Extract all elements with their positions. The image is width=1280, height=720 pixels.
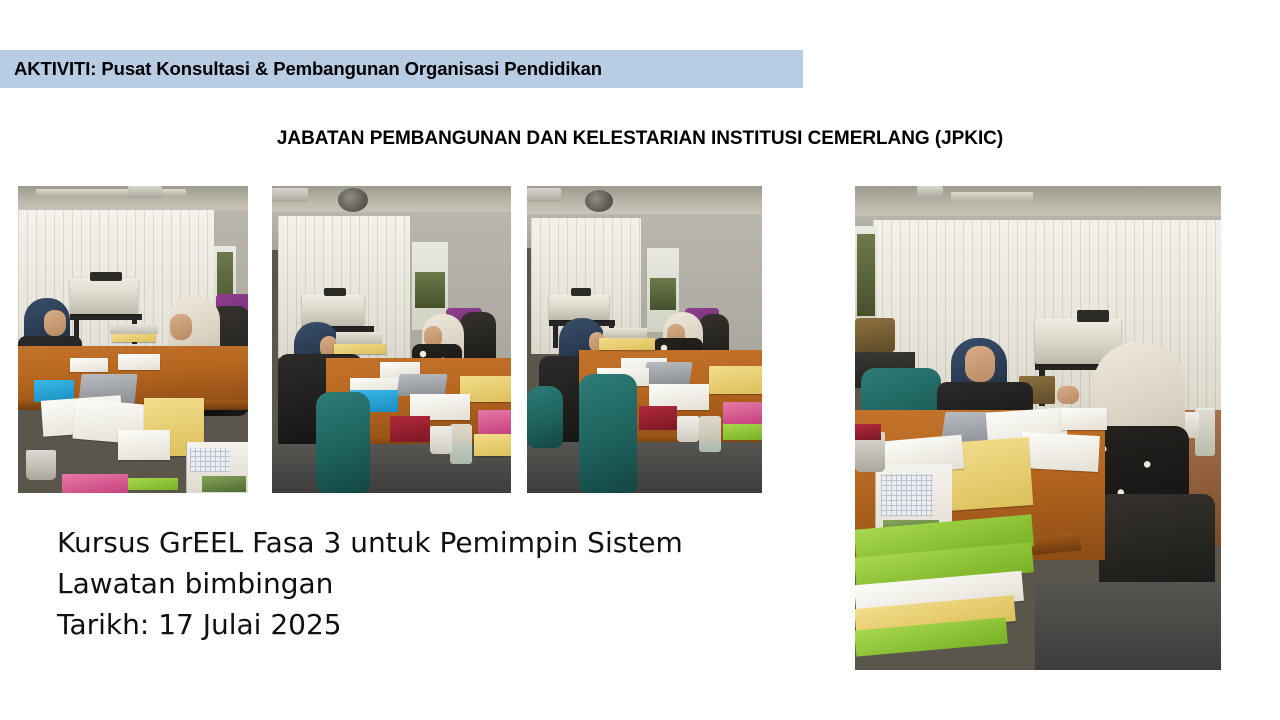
red-box	[390, 416, 430, 442]
floor	[1035, 582, 1221, 670]
teal-chair-arm	[527, 386, 563, 448]
teal-chair	[316, 392, 370, 493]
paper-stack-a	[118, 354, 160, 370]
pink-pouch	[62, 474, 128, 493]
calendar-grid	[881, 474, 933, 516]
yellow-file	[599, 338, 655, 350]
photo-1	[18, 186, 248, 493]
printer	[70, 278, 138, 314]
caption-line-3: Tarikh: 17 Julai 2025	[57, 604, 817, 645]
air-conditioner	[272, 188, 308, 202]
ceiling	[527, 186, 762, 216]
document-sheet-b	[1020, 432, 1100, 472]
printer-top	[324, 288, 346, 296]
calendar-photo	[202, 476, 246, 492]
photo-2	[272, 186, 511, 493]
red-item	[855, 424, 881, 440]
paper-stack-b	[70, 358, 108, 372]
air-conditioner	[917, 186, 943, 198]
printer-top	[1077, 310, 1109, 322]
teal-chair-back	[579, 374, 637, 493]
red-box	[639, 406, 677, 430]
person-right-hand	[1057, 386, 1079, 404]
green-folder	[723, 424, 762, 440]
book-stack	[110, 324, 158, 334]
book-stack	[336, 332, 382, 344]
paper-stack-top	[1061, 408, 1107, 430]
pink-folder	[723, 402, 762, 424]
wall-fan	[338, 188, 368, 212]
activity-banner-label: AKTIVITI: Pusat Konsultasi & Pembangunan…	[0, 58, 602, 80]
person-right-face	[170, 314, 192, 340]
green-folder	[128, 478, 178, 490]
photo-4	[855, 186, 1221, 670]
printer-top	[90, 272, 122, 281]
photo-2-scene	[272, 186, 511, 493]
printer	[302, 294, 364, 326]
photo-1-scene	[18, 186, 248, 493]
pen-holder	[26, 450, 56, 480]
ceiling-light	[951, 192, 1033, 202]
air-conditioner	[527, 188, 561, 202]
printer-top	[571, 288, 591, 296]
person-left-face	[44, 310, 66, 336]
bottle	[450, 424, 472, 464]
yellow-file	[334, 344, 386, 354]
printer-leg-left	[553, 326, 558, 348]
activity-banner: AKTIVITI: Pusat Konsultasi & Pembangunan…	[0, 50, 803, 88]
air-conditioner	[128, 186, 162, 198]
window-greenery	[650, 278, 676, 310]
caption-line-2: Lawatan bimbingan	[57, 563, 817, 604]
floor	[527, 442, 762, 493]
calendar-grid	[190, 448, 230, 472]
document-sheet-c	[118, 430, 170, 460]
mug	[430, 426, 452, 454]
yellow-file	[112, 334, 156, 342]
photo-4-scene	[855, 186, 1221, 670]
caption-block: Kursus GrEEL Fasa 3 untuk Pemimpin Siste…	[57, 522, 817, 645]
book-stack	[603, 328, 647, 338]
corner-plant	[855, 318, 895, 352]
window-greenery	[857, 234, 875, 316]
ceiling-light	[36, 189, 186, 196]
caption-line-1: Kursus GrEEL Fasa 3 untuk Pemimpin Siste…	[57, 522, 817, 563]
laptop	[643, 362, 692, 384]
photo-3	[527, 186, 762, 493]
pink-folder	[478, 410, 511, 434]
printer	[549, 294, 609, 320]
ceiling	[855, 186, 1221, 220]
bottle	[699, 416, 721, 452]
department-title: JABATAN PEMBANGUNAN DAN KELESTARIAN INST…	[0, 128, 1280, 150]
wall-fan	[585, 190, 613, 212]
photo-3-scene	[527, 186, 762, 493]
yellow-folder-stack	[709, 366, 762, 394]
window-greenery	[415, 272, 445, 308]
laptop	[396, 374, 447, 396]
mug	[677, 416, 699, 442]
person-left-face	[965, 346, 995, 382]
yellow-folder	[474, 434, 511, 456]
